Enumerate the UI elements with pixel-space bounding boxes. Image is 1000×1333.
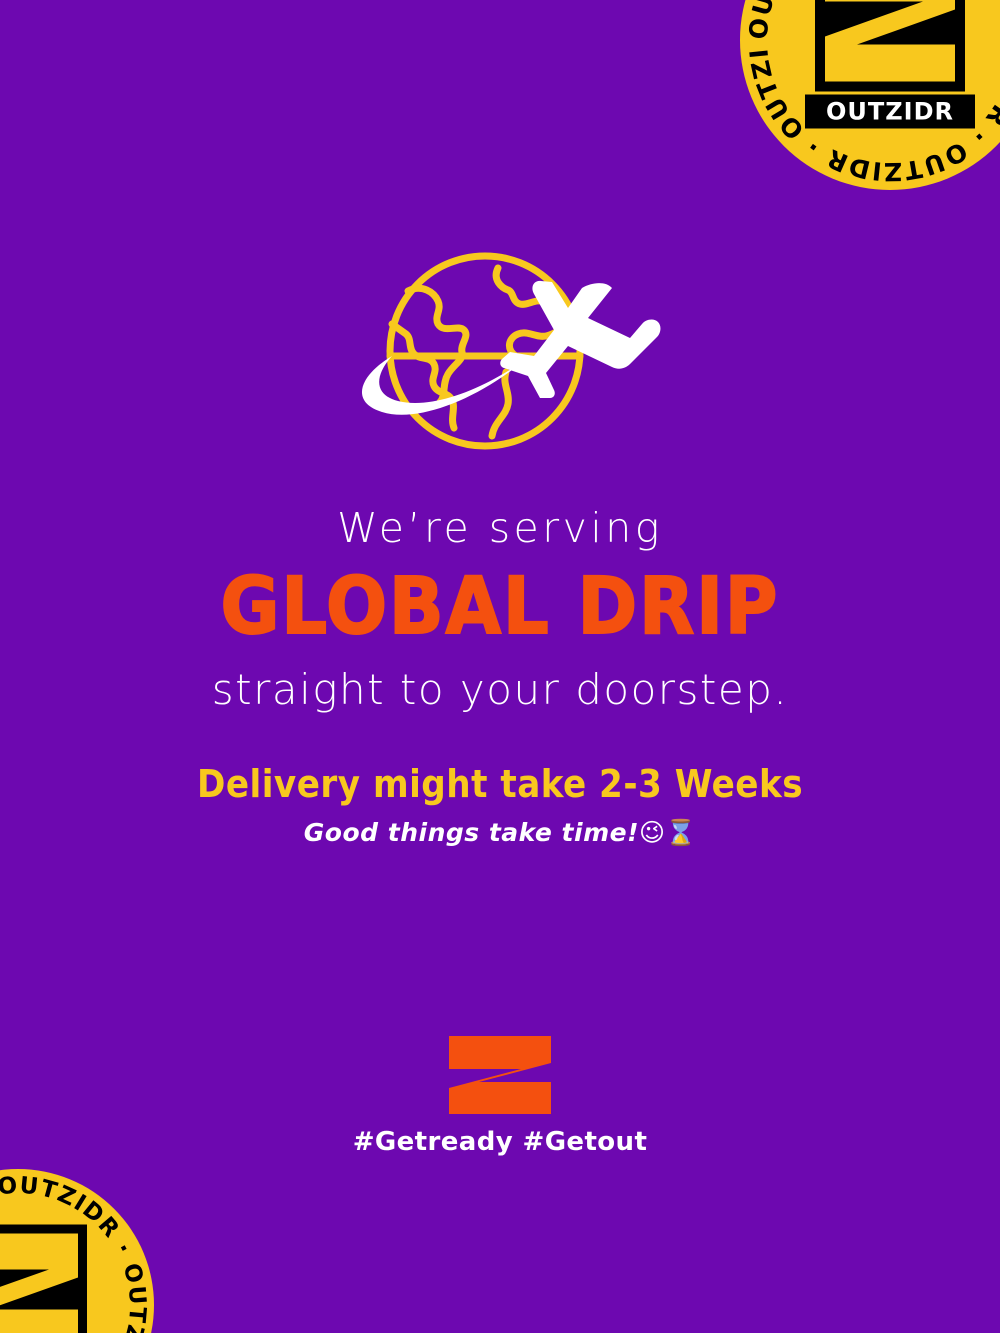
globe-with-airplane-icon [0,246,1000,472]
brand-z-logo-icon [449,1036,551,1114]
badge-core-bottom-left: OUTZIDR [0,1225,108,1333]
brand-badge-bottom-left: OUTZIDR · OUTZIDR · OUTZIDR · OUTZIDR · … [0,1169,154,1333]
headline-line-global-drip: GLOBAL DRIP [0,564,1000,651]
delivery-notice-block: Delivery might take 2-3 Weeks Good thing… [0,762,1000,848]
badge-z-logo-icon [0,1225,87,1333]
badge-wordmark-top-right: OUTZIDR [805,95,975,129]
wink-hourglass-emoji: 😉⌛ [639,818,696,847]
footer-brand-block: #Getready #Getout [0,1036,1000,1157]
headline-line-serving: We’re serving [0,505,1000,552]
brand-tagline: #Getready #Getout [353,1127,648,1157]
delivery-headline: Delivery might take 2-3 Weeks [0,762,1000,806]
headline-block: We’re serving GLOBAL DRIP straight to yo… [0,505,1000,714]
delivery-subline-text: Good things take time! [304,818,639,847]
promo-poster: OUTZIDR · OUTZIDR · OUTZIDR · OUTZIDR · … [0,0,1000,1333]
badge-z-logo-icon [815,0,965,92]
headline-line-doorstep: straight to your doorstep. [0,666,1000,714]
badge-core-top-right: OUTZIDR [790,0,990,129]
brand-badge-top-right: OUTZIDR · OUTZIDR · OUTZIDR · OUTZIDR · … [740,0,1000,190]
delivery-subline: Good things take time!😉⌛ [0,818,1000,848]
